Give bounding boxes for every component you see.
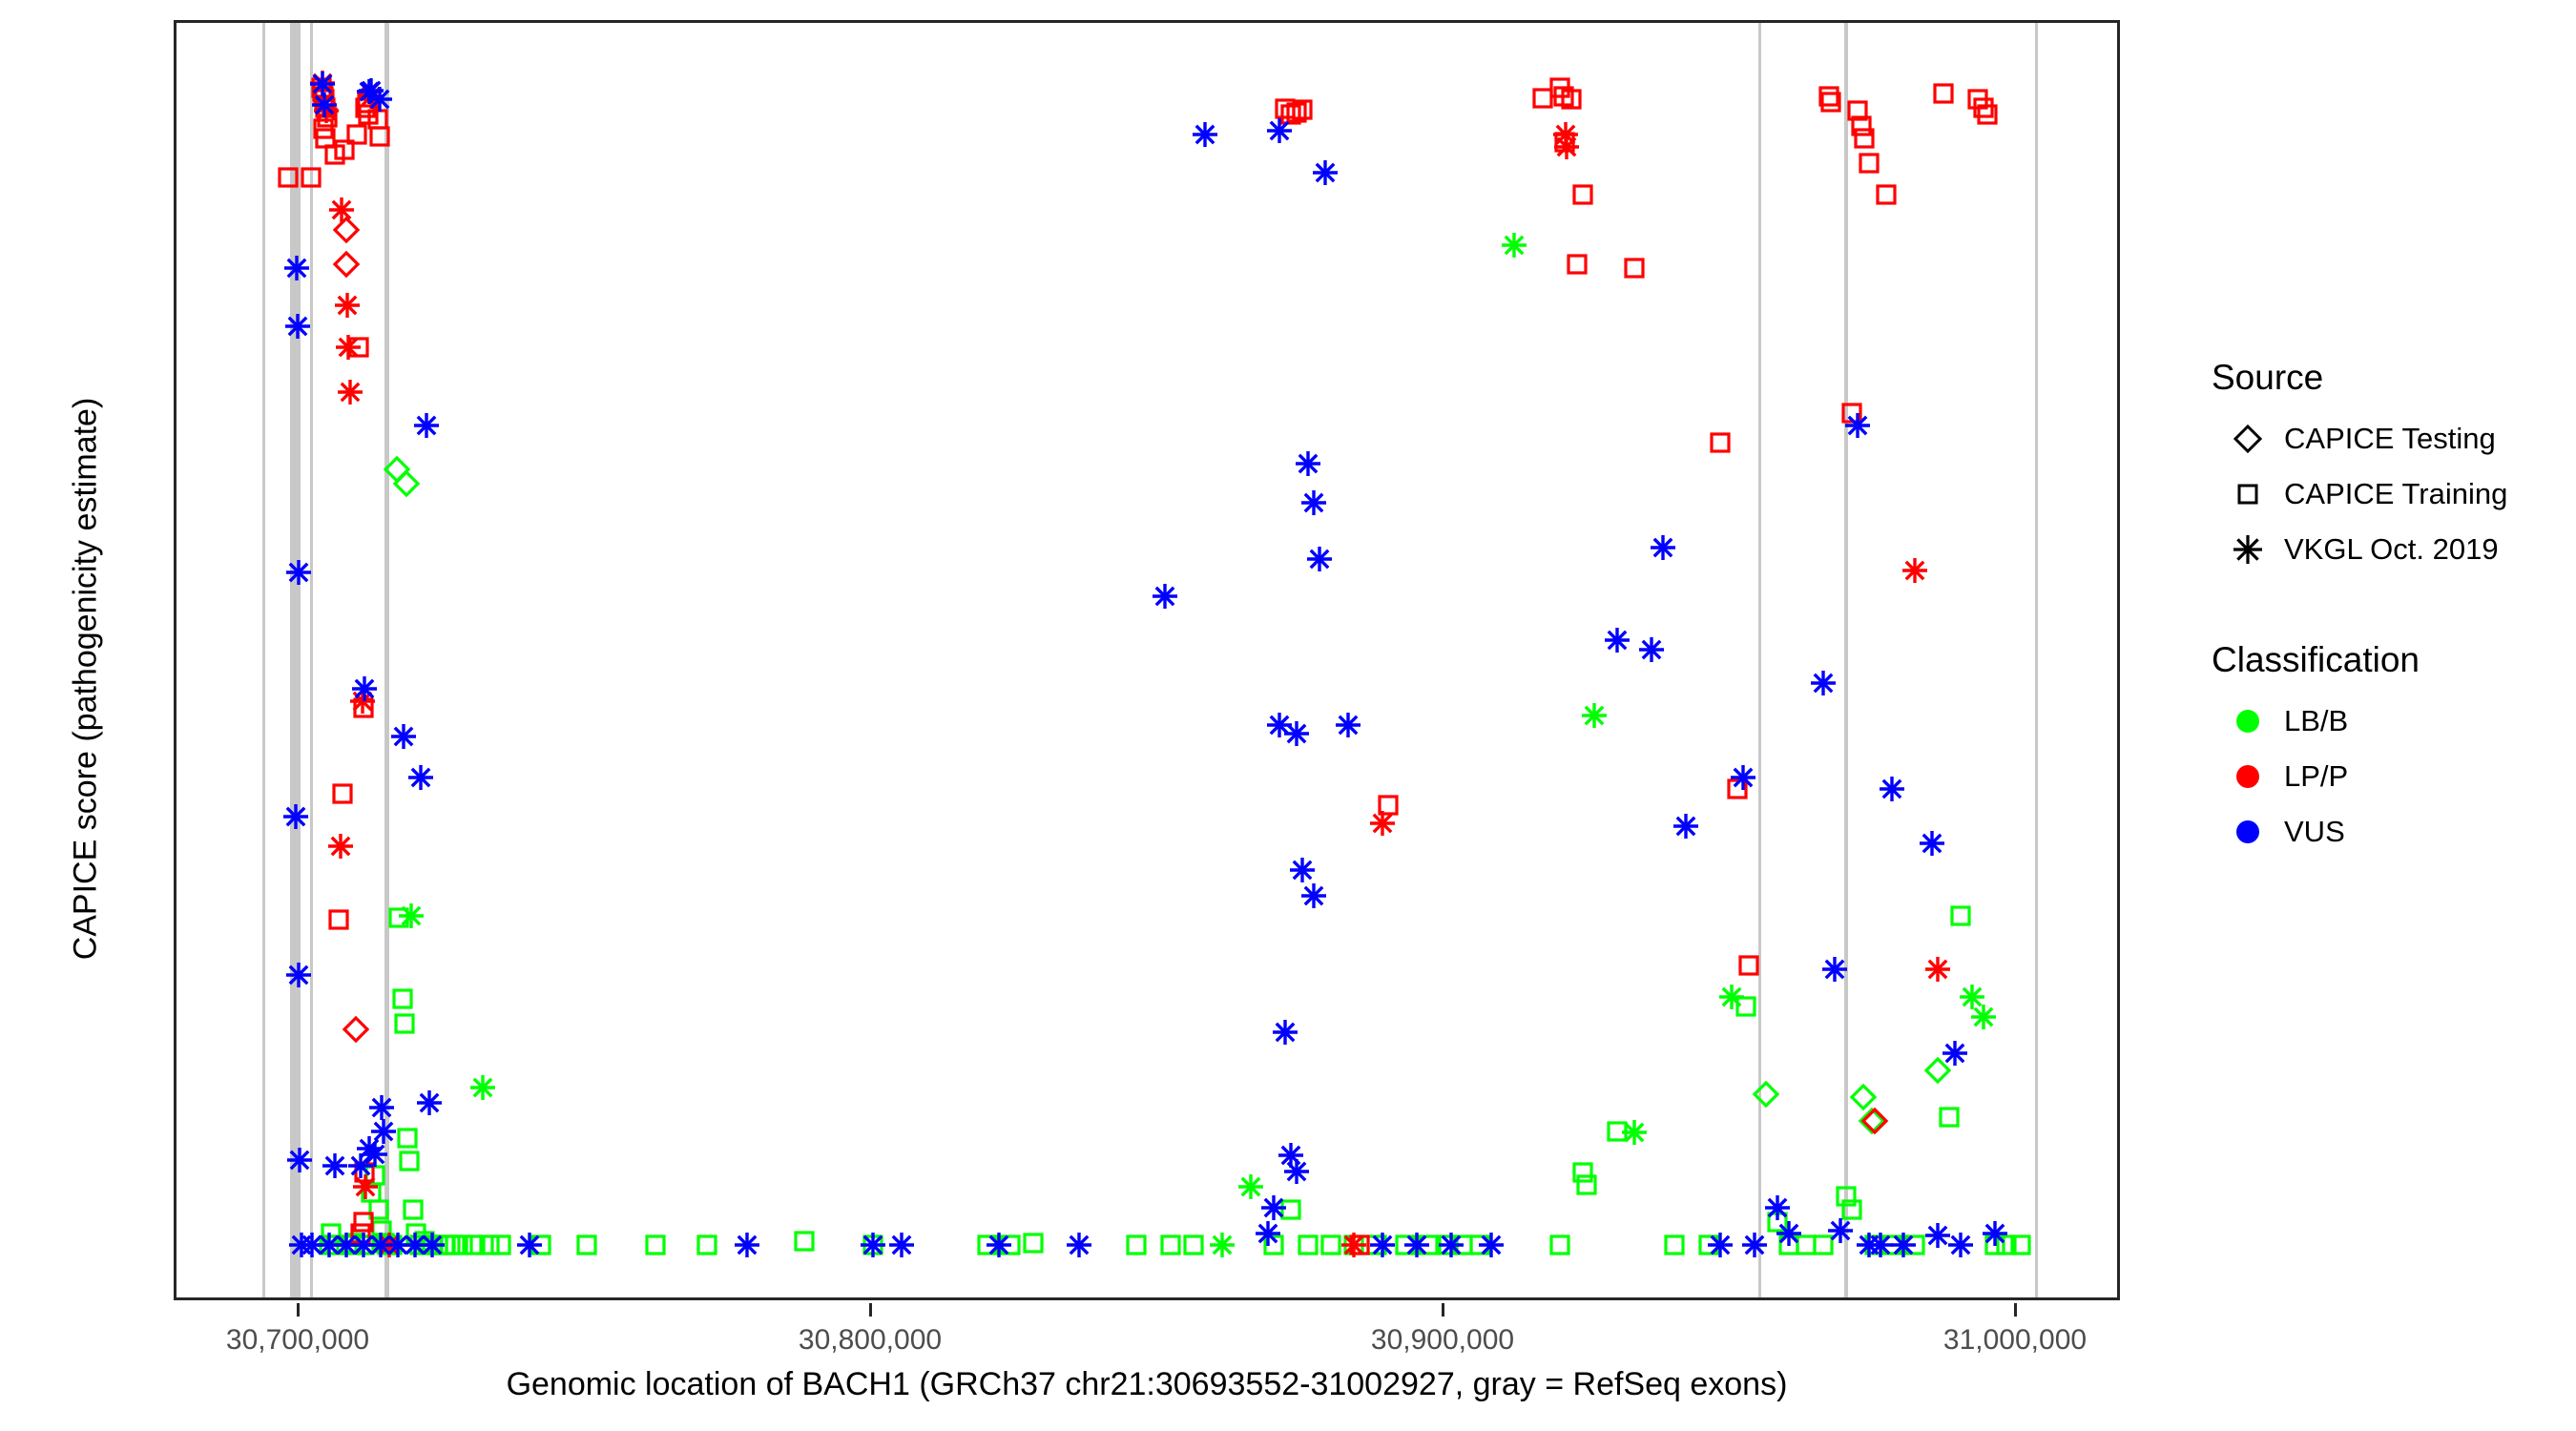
data-point-lpp [330,248,363,280]
data-point-vus [1824,1214,1857,1247]
data-point-lpp [1870,178,1902,211]
data-point-vus [1807,667,1839,699]
data-point-vus [1727,761,1759,794]
data-point-lpp [1899,554,1931,587]
data-point-lpp [340,1013,372,1046]
legend-item-label: LP/P [2284,759,2348,794]
data-point-lpp [364,120,396,153]
legend-item-lb-b[interactable]: LB/B [2212,694,2565,749]
data-point-lpp [1561,248,1593,280]
data-point-lpp [1733,949,1765,982]
data-point-lbb [395,900,427,932]
data-point-lbb [1967,1001,2000,1033]
data-point-lpp [325,194,358,226]
data-point-vus [1916,827,1948,860]
data-point-lpp [1971,98,2004,131]
data-point-vus [1939,1037,1971,1069]
data-point-vus [1309,156,1341,189]
data-point-lpp [1704,426,1736,459]
x-tick [297,1303,300,1317]
data-point-vus [1292,447,1324,480]
data-point-vus [387,720,420,753]
legend-spacer [2212,577,2565,640]
data-point-vus [319,1150,351,1182]
data-point-vus [1332,709,1364,741]
data-point-lbb [1498,229,1530,261]
data-point-vus [1298,487,1330,519]
data-point-vus [1401,1229,1433,1261]
data-point-lbb [1715,981,1748,1013]
exon-band [2035,23,2038,1297]
x-tick [869,1303,872,1317]
data-point-vus [885,1229,918,1261]
legend-item-vkgl-oct-2019[interactable]: VKGL Oct. 2019 [2212,522,2565,577]
data-point-lpp [324,830,357,862]
data-point-vus [1670,810,1702,842]
exon-band [310,23,313,1297]
dot-icon [2212,812,2284,852]
data-point-lpp [1338,1229,1370,1261]
data-point-vus [1601,624,1633,656]
data-point-vus [1366,1229,1399,1261]
data-point-vus [348,673,381,705]
legend-item-vus[interactable]: VUS [2212,804,2565,860]
data-point-vus [513,1229,546,1261]
data-point-lbb [788,1225,821,1257]
data-point-vus [280,252,313,284]
legend-item-label: LB/B [2284,704,2348,738]
data-point-vus [282,556,315,589]
x-tick-label: 30,900,000 [1371,1324,1514,1357]
data-point-vus [355,74,387,107]
legend: Source CAPICE TestingCAPICE TrainingVKGL… [2212,358,2565,860]
data-point-lbb [691,1229,723,1261]
data-point-lpp [1859,1105,1891,1137]
data-point-lbb [1618,1116,1651,1149]
data-point-vus [1818,953,1851,985]
data-point-lpp [1567,178,1599,211]
legend-source-title: Source [2212,358,2565,398]
data-point-vus [1063,1229,1095,1261]
data-point-vus [280,800,312,833]
data-point-vus [1298,880,1330,912]
data-point-vus [1876,773,1908,805]
data-point-vus [1979,1217,2011,1250]
data-point-vus [405,761,437,794]
data-point-vus [731,1229,763,1261]
data-point-vus [283,1144,316,1176]
dot-icon [2212,701,2284,741]
legend-item-label: CAPICE Testing [2284,422,2496,456]
diamond-icon [2212,419,2284,459]
data-point-lbb [639,1229,672,1261]
data-point-lpp [332,331,364,363]
data-point-vus [1149,580,1181,612]
data-point-vus [1303,543,1336,575]
data-point-vus [1280,1155,1313,1188]
x-axis-title: Genomic location of BACH1 (GRCh37 chr21:… [174,1366,2120,1403]
data-point-lbb [1578,699,1610,732]
data-point-vus [1635,633,1668,666]
data-point-lpp [1922,953,1954,985]
data-point-vus [1189,118,1221,151]
dot-icon [2212,757,2284,797]
data-point-vus [1280,717,1313,750]
data-point-vus [413,1087,446,1119]
exon-band [290,23,301,1297]
data-point-vus [1435,1229,1467,1261]
plot-area [177,23,2117,1297]
x-tick [2014,1303,2017,1317]
data-point-lpp [1927,77,1960,110]
x-tick-label: 30,700,000 [226,1324,369,1357]
data-point-lbb [1750,1078,1782,1110]
data-point-lpp [334,376,366,408]
legend-item-label: VUS [2284,815,2345,849]
data-point-vus [410,409,443,442]
data-point-vus [983,1229,1015,1261]
data-point-lpp [331,289,364,321]
legend-item-label: CAPICE Training [2284,477,2507,511]
exon-band [262,23,265,1297]
data-point-lbb [1544,1229,1576,1261]
data-point-lpp [1555,83,1588,115]
x-tick [1442,1303,1444,1317]
data-point-lpp [1618,252,1651,284]
data-point-lpp [322,903,355,936]
data-point-lbb [1206,1229,1238,1261]
chart-root: CAPICE score (pathogenicity estimate) 0.… [0,0,2576,1431]
x-tick-label: 30,800,000 [799,1324,942,1357]
data-point-vus [1475,1229,1507,1261]
data-point-vus [1252,1217,1284,1250]
legend-item-lp-p[interactable]: LP/P [2212,749,2565,804]
data-point-vus [1841,409,1874,442]
data-point-vus [416,1229,448,1261]
data-point-vus [1773,1217,1805,1250]
square-icon [2212,474,2284,514]
data-point-lpp [1366,807,1399,840]
legend-item-capice-training[interactable]: CAPICE Training [2212,467,2565,522]
data-point-lpp [1550,131,1583,163]
data-point-lbb [393,1145,426,1177]
data-point-vus [1738,1229,1771,1261]
data-point-lbb [485,1229,517,1261]
data-point-lbb [1570,1169,1603,1201]
data-point-lbb [388,1007,421,1040]
data-point-vus [1647,531,1679,564]
legend-classification-items: LB/BLP/PVUS [2212,694,2565,860]
legend-source-items: CAPICE TestingCAPICE TrainingVKGL Oct. 2… [2212,411,2565,577]
plot-panel [174,20,2120,1300]
data-point-vus [308,89,341,121]
y-axis-title: CAPICE score (pathogenicity estimate) [68,59,105,1299]
asterisk-icon [2212,529,2284,570]
data-point-lbb [1120,1229,1153,1261]
data-point-lbb [1017,1227,1049,1259]
data-point-vus [857,1229,889,1261]
data-point-lbb [571,1229,603,1261]
legend-item-label: VKGL Oct. 2019 [2284,532,2499,567]
legend-item-capice-testing[interactable]: CAPICE Testing [2212,411,2565,467]
x-tick-label: 31,000,000 [1943,1324,2087,1357]
data-point-lbb [1944,900,1977,932]
data-point-lbb [390,467,423,500]
data-point-vus [1263,114,1296,147]
data-point-vus [1704,1229,1736,1261]
data-point-vus [282,959,315,991]
data-point-lbb [1658,1229,1691,1261]
data-point-vus [1944,1229,1977,1261]
legend-classification-title: Classification [2212,640,2565,680]
data-point-vus [1887,1229,1920,1261]
data-point-lbb [1177,1229,1210,1261]
data-point-vus [1269,1016,1301,1048]
data-point-lpp [326,778,359,810]
data-point-lpp [1853,147,1885,179]
data-point-vus [281,310,314,342]
data-point-lbb [467,1071,499,1104]
data-point-lbb [1933,1101,1965,1133]
